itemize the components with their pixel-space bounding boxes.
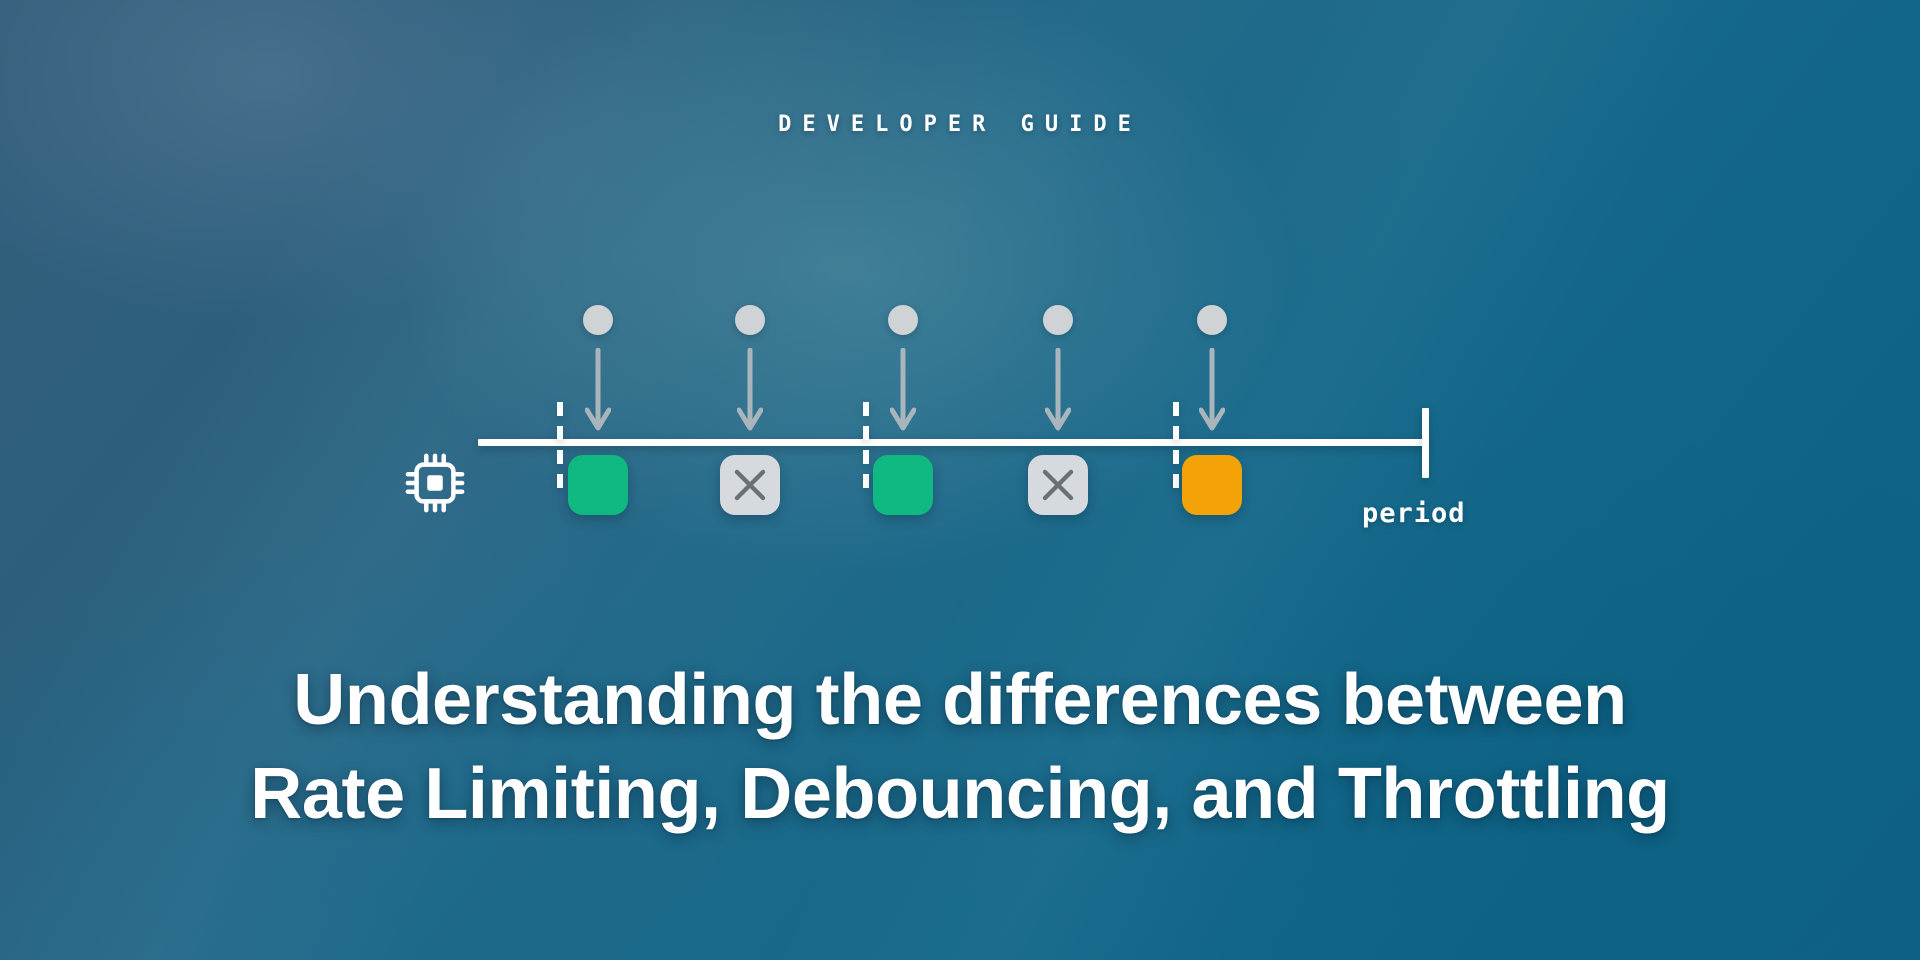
cpu-chip-icon: [404, 452, 466, 514]
page-title: Understanding the differences between Ra…: [0, 654, 1920, 841]
period-label: period: [1362, 498, 1466, 529]
marker-accept-1: [568, 455, 628, 515]
request-dot: [1197, 305, 1227, 335]
close-x-icon: [730, 465, 770, 505]
rate-limiting-timeline-diagram: period: [0, 0, 1920, 640]
window-divider-3: [1173, 402, 1179, 498]
hero-banner: DEVELOPER GUIDE: [0, 0, 1920, 960]
close-x-icon: [1038, 465, 1078, 505]
request-dot: [888, 305, 918, 335]
request-dot: [583, 305, 613, 335]
timeline-end-tick: [1422, 408, 1429, 478]
marker-reject-4: [1028, 455, 1088, 515]
marker-reject-2: [720, 455, 780, 515]
eyebrow-label: DEVELOPER GUIDE: [0, 112, 1920, 137]
window-divider-2: [863, 402, 869, 498]
request-dot: [735, 305, 765, 335]
window-divider-1: [557, 402, 563, 498]
marker-accept-3: [873, 455, 933, 515]
down-arrow-icon: [737, 348, 763, 438]
down-arrow-icon: [585, 348, 611, 438]
marker-partial-5: [1182, 455, 1242, 515]
timeline-axis: [478, 439, 1426, 446]
page-title-line-1: Understanding the differences between: [90, 654, 1830, 748]
page-title-line-2: Rate Limiting, Debouncing, and Throttlin…: [90, 748, 1830, 842]
request-dot: [1043, 305, 1073, 335]
down-arrow-icon: [1045, 348, 1071, 438]
down-arrow-icon: [1199, 348, 1225, 438]
down-arrow-icon: [890, 348, 916, 438]
